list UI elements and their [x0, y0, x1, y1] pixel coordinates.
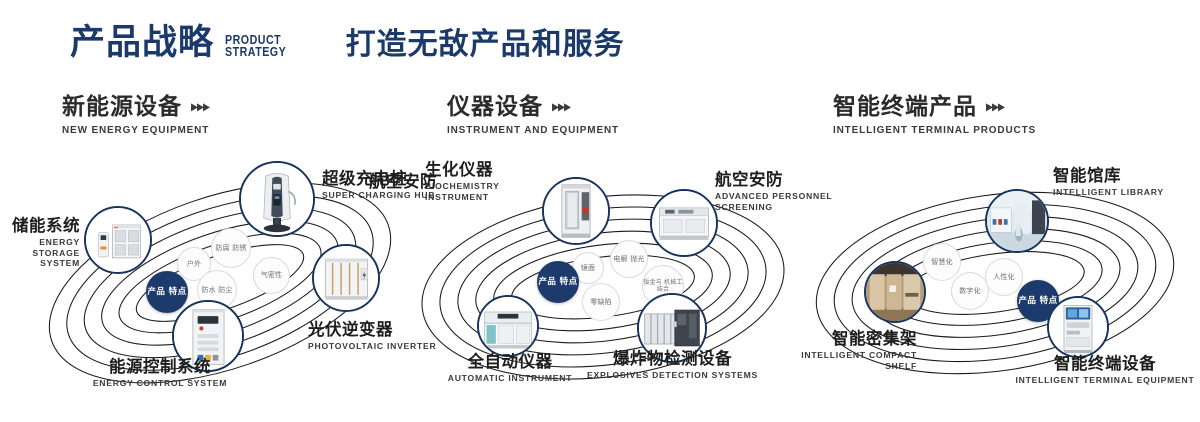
node-label-en-1-3: AUTOMATIC INSTRUMENT: [415, 373, 605, 384]
screening-machine-icon: [652, 191, 716, 255]
feature-bubble-2-2: 人性化: [985, 258, 1023, 296]
node-label-cn-0-3: 能源控制系统: [70, 358, 250, 376]
feature-label-1-0: 镜面: [581, 264, 595, 273]
section-title-text-2: 智能终端产品: [833, 95, 977, 119]
node-label-cn-1-extra: 航空安防: [357, 173, 437, 191]
cluster-instrument: 镜面 电解 抛光 零缺陷 钣金与 机械工结合 产品 特点 生化仪器 BIOCHE…: [405, 155, 805, 405]
node-label-en-0-0: ENERGY STORAGE SYSTEM: [0, 237, 80, 269]
node-label-automatic-instrument: 全自动仪器 AUTOMATIC INSTRUMENT: [415, 353, 605, 384]
section-heading-intelligent: 智能终端产品 ▸▸▸ INTELLIGENT TERMINAL PRODUCTS: [833, 95, 1047, 136]
section-title-en-0: NEW ENERGY EQUIPMENT: [62, 124, 209, 136]
section-title-cn-0: 新能源设备 ▸▸▸: [62, 95, 217, 119]
section-title-en-1: INSTRUMENT AND EQUIPMENT: [447, 124, 619, 136]
node-screening[interactable]: [650, 189, 718, 257]
poster-header: 产品战略 PRODUCT STRATEGY 打造无敌产品和服务: [70, 26, 625, 61]
node-pv-inverter[interactable]: [312, 244, 380, 312]
cluster-new-energy: 户外 防腐 防锈 防水 防尘 气密性 产品 特点 储能系统 ENERGY S: [20, 155, 420, 405]
section-heading-instrument: 仪器设备 ▸▸▸ INSTRUMENT AND EQUIPMENT: [447, 95, 628, 136]
charging-pile-icon: [241, 163, 313, 235]
automatic-instrument-icon: [479, 297, 537, 355]
node-compact-shelf[interactable]: [864, 261, 926, 323]
core-bubble-label-0: 产品 特点: [148, 287, 187, 297]
node-label-en-2-2: INTELLIGENT TERMINAL EQUIPMENT: [1010, 375, 1200, 386]
feature-label-0-1: 防腐 防锈: [215, 244, 246, 253]
core-bubble-label-1: 产品 特点: [539, 277, 578, 287]
node-label-en-1-0: BIOCHEMISTRY INSTRUMENT: [425, 181, 545, 202]
section-title-text-0: 新能源设备: [62, 95, 182, 119]
chevron-right-icon-2: ▸▸▸: [986, 99, 1004, 116]
feature-bubble-1-2: 零缺陷: [582, 283, 620, 321]
node-label-cn-1-2: 爆炸物检测设备: [580, 350, 765, 368]
node-label-explosive-detection: 爆炸物检测设备 EXPLOSIVES DETECTION SYSTEMS: [580, 350, 765, 381]
node-label-energy-storage: 储能系统 ENERGY STORAGE SYSTEM: [0, 217, 80, 269]
node-label-en-2-1: INTELLIGENT COMPACT SHELF: [747, 350, 917, 371]
biochemistry-analyzer-icon: [544, 179, 608, 243]
feature-label-0-0: 户外: [187, 260, 201, 269]
feature-label-2-0: 智慧化: [931, 258, 953, 267]
node-label-terminal-kiosk: 智能终端设备 INTELLIGENT TERMINAL EQUIPMENT: [1010, 355, 1200, 386]
chevron-right-icon-0: ▸▸▸: [191, 99, 209, 116]
node-label-cn-2-2: 智能终端设备: [1010, 355, 1200, 373]
page-title-en: PRODUCT STRATEGY: [225, 34, 286, 61]
node-biochemistry[interactable]: [542, 177, 610, 245]
feature-bubble-1-1: 电解 抛光: [610, 240, 648, 278]
section-title-cn-2: 智能终端产品 ▸▸▸: [833, 95, 1047, 119]
node-label-compact-shelf: 智能密集架 INTELLIGENT COMPACT SHELF: [747, 330, 917, 371]
page-subtitle: 打造无敌产品和服务: [346, 30, 625, 61]
library-room-icon: [987, 191, 1047, 251]
feature-bubble-0-3: 气密性: [253, 257, 290, 294]
node-label-cn-0-0: 储能系统: [0, 217, 80, 235]
feature-label-0-3: 气密性: [261, 271, 283, 280]
feature-bubble-2-1: 数字化: [951, 272, 989, 310]
node-energy-storage[interactable]: [84, 206, 152, 274]
node-label-en-2-0: INTELLIGENT LIBRARY: [1053, 187, 1193, 198]
self-service-kiosk-icon: [1049, 298, 1107, 356]
node-label-cn-1-3: 全自动仪器: [415, 353, 605, 371]
chevron-right-icon-1: ▸▸▸: [552, 99, 570, 116]
feature-bubble-2-0: 智慧化: [923, 243, 961, 281]
node-label-en-0-3: ENERGY CONTROL SYSTEM: [70, 378, 250, 389]
section-heading-new-energy: 新能源设备 ▸▸▸ NEW ENERGY EQUIPMENT: [62, 95, 217, 136]
section-title-cn-1: 仪器设备 ▸▸▸: [447, 95, 628, 119]
compact-shelf-icon: [866, 263, 924, 321]
node-label-aviation-security-left: 航空安防: [357, 173, 437, 191]
feature-label-1-3: 钣金与 机械工结合: [643, 279, 683, 294]
feature-label-1-2: 零缺陷: [590, 298, 612, 307]
node-label-energy-control: 能源控制系统 ENERGY CONTROL SYSTEM: [70, 358, 250, 389]
inverter-cabinet-icon: [314, 246, 378, 310]
core-bubble-1: 产品 特点: [537, 261, 579, 303]
node-label-cn-2-1: 智能密集架: [747, 330, 917, 348]
energy-storage-cabinet-icon: [86, 208, 150, 272]
feature-label-0-2: 防水 防尘: [201, 286, 232, 295]
section-title-text-1: 仪器设备: [447, 95, 543, 119]
node-label-biochemistry: 生化仪器 BIOCHEMISTRY INSTRUMENT: [425, 161, 545, 202]
feature-label-2-1: 数字化: [959, 287, 981, 296]
feature-label-1-1: 电解 抛光: [613, 255, 644, 264]
node-intelligent-library[interactable]: [985, 189, 1049, 253]
node-automatic-instrument[interactable]: [477, 295, 539, 357]
node-label-cn-2-0: 智能馆库: [1053, 167, 1193, 185]
node-label-cn-1-0: 生化仪器: [425, 161, 545, 179]
node-terminal-kiosk[interactable]: [1047, 296, 1109, 358]
section-title-en-2: INTELLIGENT TERMINAL PRODUCTS: [833, 124, 1036, 136]
cluster-intelligent-terminal: 智慧化 数字化 人性化 产品 特点 智能馆库 INTELLIGENT LIBRA…: [795, 155, 1195, 405]
node-charging-hub[interactable]: [239, 161, 315, 237]
node-label-intelligent-library: 智能馆库 INTELLIGENT LIBRARY: [1053, 167, 1193, 198]
node-label-en-1-2: EXPLOSIVES DETECTION SYSTEMS: [580, 370, 765, 381]
poster-canvas: 产品战略 PRODUCT STRATEGY 打造无敌产品和服务 新能源设备 ▸▸…: [0, 0, 1200, 422]
feature-label-2-2: 人性化: [993, 273, 1015, 282]
page-title-cn: 产品战略: [70, 26, 214, 61]
